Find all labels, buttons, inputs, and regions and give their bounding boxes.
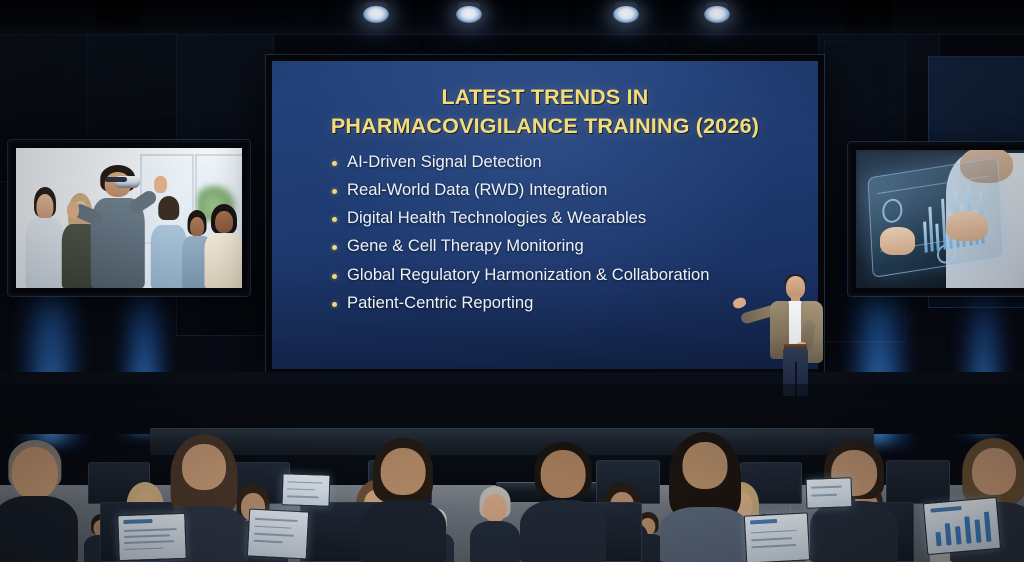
- device-screen-line: [751, 537, 792, 541]
- spotlight-4: [704, 6, 730, 23]
- shoulders: [0, 496, 78, 562]
- device-screen-line: [254, 518, 297, 522]
- device-screen-line: [810, 486, 842, 489]
- holo-bar-3: [936, 223, 940, 251]
- side-screen-right[interactable]: [848, 142, 1024, 296]
- attendee-laptop[interactable]: [805, 477, 852, 509]
- ceiling-truss-left: [96, 0, 142, 34]
- holo-divider-1: [877, 175, 990, 194]
- attendee-tablet[interactable]: [247, 508, 309, 559]
- head: [12, 447, 58, 498]
- vr-observer-5: [204, 204, 242, 288]
- shoulders: [810, 501, 898, 562]
- conference-presentation-scene: LATEST TRENDS IN PHARMACOVIGILANCE TRAIN…: [0, 0, 1024, 562]
- shoulders: [520, 500, 606, 562]
- spotlight-2: [456, 6, 482, 23]
- device-screen-line: [751, 530, 797, 534]
- audience-member: [520, 442, 606, 562]
- attendee-laptop[interactable]: [117, 513, 187, 561]
- device-screen-line: [751, 544, 796, 548]
- device-chart-bar: [944, 523, 951, 545]
- device-screen-line: [125, 547, 163, 550]
- spotlight-3: [613, 6, 639, 23]
- device-chart-bar: [935, 532, 941, 546]
- device-screen-header: [750, 519, 777, 525]
- audience-member: [660, 432, 750, 562]
- side-screen-left-display: [16, 148, 242, 288]
- device-screen-line: [254, 525, 291, 528]
- vr-training-scene: [16, 148, 242, 288]
- side-screen-right-display: [856, 150, 1024, 288]
- device-screen-line: [124, 535, 170, 538]
- head: [215, 211, 233, 233]
- device-chart-bar: [955, 526, 962, 544]
- holo-donut-chart: [881, 197, 903, 224]
- holo-bar-2: [928, 206, 933, 252]
- device-screen-line: [287, 481, 322, 484]
- vr-observer-1: [25, 187, 66, 288]
- head: [683, 442, 728, 489]
- shoulders: [360, 500, 446, 562]
- bullet-item-5: Global Regulatory Harmonization & Collab…: [332, 267, 792, 284]
- bullet-item-3: Digital Health Technologies & Wearables: [332, 210, 792, 227]
- head: [182, 444, 226, 490]
- device-screen-line: [253, 540, 282, 543]
- device-chart-bar: [984, 512, 992, 542]
- bullet-item-4: Gene & Cell Therapy Monitoring: [332, 238, 792, 255]
- hand-right: [154, 176, 167, 193]
- attendee-tablet[interactable]: [744, 512, 810, 562]
- holo-bar-1: [923, 221, 928, 253]
- device-chart-bar: [974, 519, 981, 542]
- attendee-tablet-chart[interactable]: [923, 497, 1001, 555]
- main-presentation-screen[interactable]: LATEST TRENDS IN PHARMACOVIGILANCE TRAIN…: [266, 55, 824, 375]
- bullet-item-6: Patient-Centric Reporting: [332, 295, 792, 312]
- bullet-item-2: Real-World Data (RWD) Integration: [332, 182, 792, 199]
- bullet-item-1: AI-Driven Signal Detection: [332, 154, 792, 171]
- device-screen-line: [124, 528, 177, 531]
- head: [37, 194, 54, 220]
- ceiling-truss-right: [846, 0, 892, 34]
- device-screen-line: [124, 541, 174, 544]
- audience-member: [470, 486, 520, 562]
- slide-title: LATEST TRENDS IN PHARMACOVIGILANCE TRAIN…: [298, 83, 792, 140]
- device-screen-line: [811, 494, 837, 496]
- clinician-hand-left: [880, 227, 915, 255]
- vr-headset-user: [86, 165, 149, 288]
- slide-bullet-list: AI-Driven Signal Detection Real-World Da…: [332, 154, 792, 311]
- hand-left: [67, 202, 79, 218]
- head: [972, 448, 1016, 495]
- torso: [204, 233, 242, 288]
- attendee-laptop[interactable]: [281, 473, 330, 507]
- device-chart-bar: [964, 516, 971, 543]
- head: [381, 448, 426, 495]
- slide-content: LATEST TRENDS IN PHARMACOVIGILANCE TRAIN…: [272, 61, 818, 369]
- side-screen-left[interactable]: [8, 140, 250, 296]
- device-screen-line: [287, 488, 316, 490]
- device-screen-header: [930, 505, 962, 512]
- clinician-dashboard-scene: [856, 150, 1024, 288]
- clinician-hand-right: [946, 211, 988, 241]
- device-screen-line: [286, 495, 318, 498]
- shoulders: [660, 507, 750, 562]
- head: [190, 217, 204, 237]
- shoulders: [470, 521, 520, 562]
- head: [483, 494, 507, 523]
- slide-title-line-2: PHARMACOVIGILANCE TRAINING (2026): [298, 112, 792, 141]
- audience-seating: [0, 384, 1024, 562]
- vr-headset-strap: [105, 177, 127, 182]
- audience-member: [0, 440, 78, 562]
- spotlight-1: [363, 6, 389, 23]
- audience-member: [360, 438, 446, 562]
- device-screen-header: [124, 519, 153, 524]
- slide-title-line-1: LATEST TRENDS IN: [441, 85, 648, 109]
- head: [160, 202, 176, 226]
- torso: [26, 218, 65, 288]
- head: [541, 450, 586, 498]
- device-screen-line: [254, 533, 295, 537]
